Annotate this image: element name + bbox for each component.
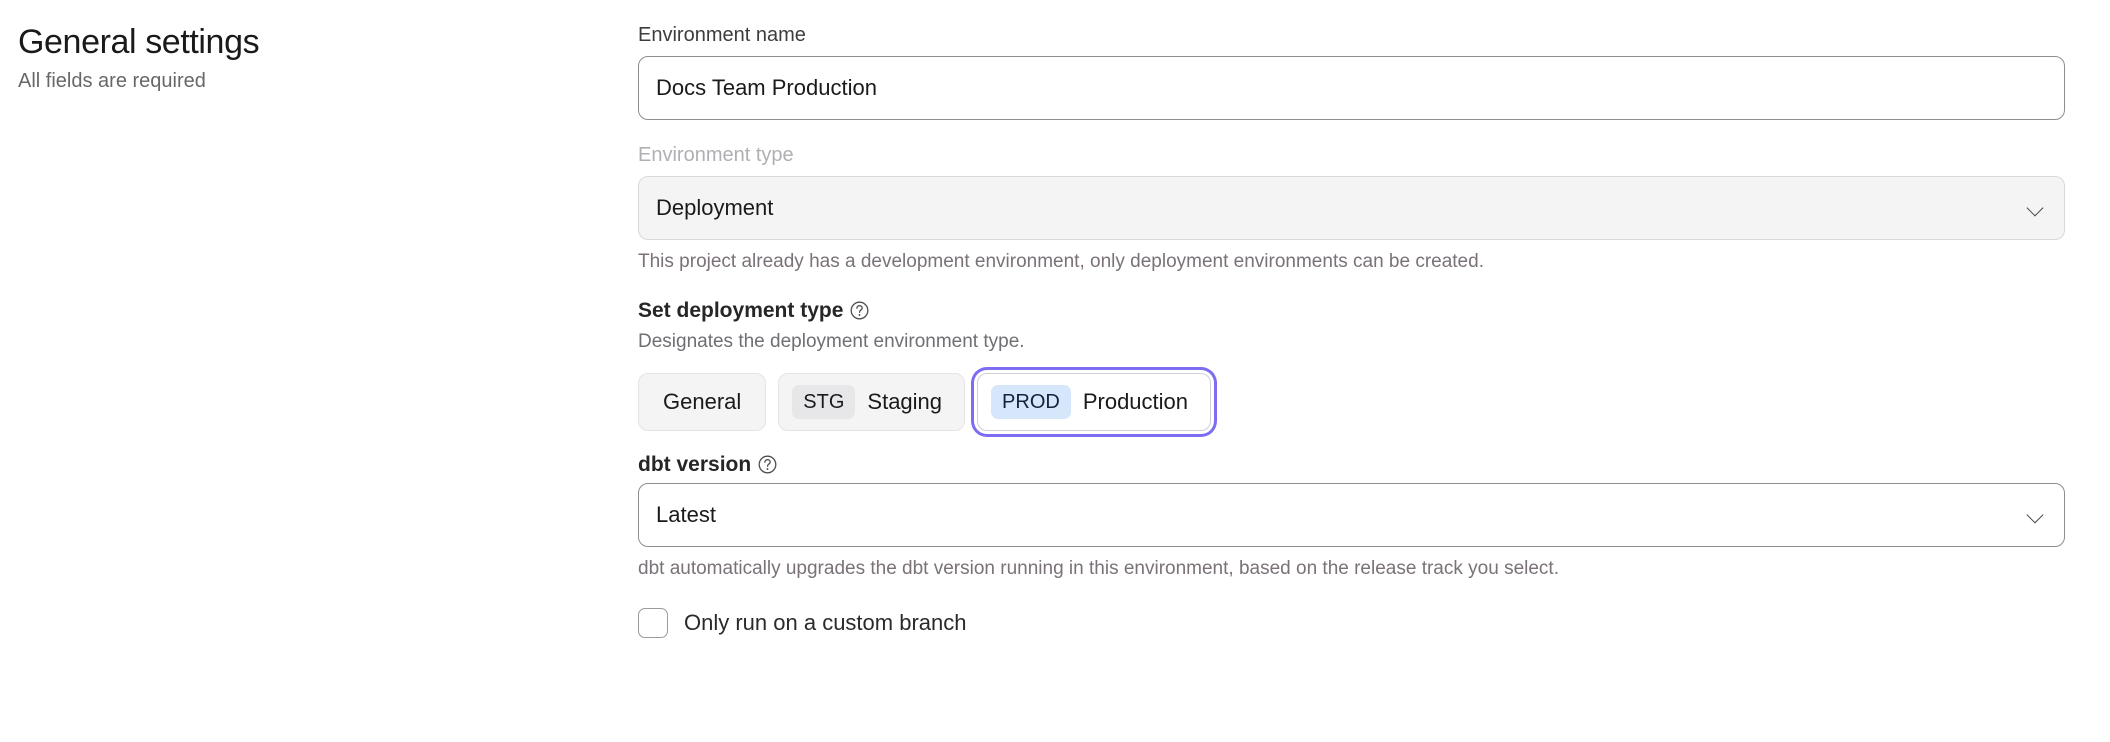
chevron-down-icon bbox=[2025, 504, 2047, 526]
environment-type-helper-text: This project already has a development e… bbox=[638, 249, 2065, 275]
dbt-version-heading: dbt version bbox=[638, 451, 2065, 478]
dbt-version-heading-text: dbt version bbox=[638, 451, 751, 478]
question-circle-icon[interactable] bbox=[850, 301, 869, 320]
environment-type-field: Environment type Deployment This project… bbox=[638, 142, 2065, 275]
deployment-type-option-general[interactable]: General bbox=[638, 373, 766, 431]
dbt-version-helper-text: dbt automatically upgrades the dbt versi… bbox=[638, 556, 2065, 582]
deployment-type-field: Set deployment type Designates the deplo… bbox=[638, 297, 2065, 437]
deployment-type-option-production[interactable]: PROD Production bbox=[977, 373, 1211, 431]
environment-name-input[interactable]: Docs Team Production bbox=[638, 56, 2065, 120]
spacer bbox=[638, 275, 2065, 297]
custom-branch-checkbox[interactable] bbox=[638, 608, 668, 638]
spacer bbox=[638, 437, 2065, 451]
page-title: General settings bbox=[18, 22, 638, 62]
deployment-type-options: General STG Staging PROD Production bbox=[638, 367, 2065, 437]
deployment-type-option-staging-label: Staging bbox=[867, 391, 942, 413]
deployment-type-button-group: General STG Staging PROD Production bbox=[638, 373, 2065, 431]
general-settings-page: General settings All fields are required… bbox=[0, 0, 2110, 638]
settings-intro-column: General settings All fields are required bbox=[0, 0, 638, 94]
environment-type-label: Environment type bbox=[638, 142, 2065, 168]
deployment-type-option-staging[interactable]: STG Staging bbox=[778, 373, 965, 431]
question-circle-icon[interactable] bbox=[758, 455, 777, 474]
page-subtitle: All fields are required bbox=[18, 68, 638, 94]
custom-branch-field: Only run on a custom branch bbox=[638, 608, 2065, 638]
deployment-type-description: Designates the deployment environment ty… bbox=[638, 329, 2065, 355]
production-badge: PROD bbox=[991, 385, 1071, 419]
deployment-type-option-production-label: Production bbox=[1083, 391, 1188, 413]
deployment-type-heading-text: Set deployment type bbox=[638, 297, 843, 324]
environment-type-select[interactable]: Deployment bbox=[638, 176, 2065, 240]
settings-form-column: Environment name Docs Team Production En… bbox=[638, 0, 2088, 638]
spacer bbox=[638, 120, 2065, 142]
chevron-down-icon bbox=[2025, 197, 2047, 219]
dbt-version-value: Latest bbox=[656, 504, 716, 526]
staging-badge: STG bbox=[792, 385, 855, 419]
deployment-type-option-general-label: General bbox=[663, 391, 741, 413]
deployment-type-heading: Set deployment type bbox=[638, 297, 2065, 324]
dbt-version-select[interactable]: Latest bbox=[638, 483, 2065, 547]
dbt-version-field: dbt version Latest dbt automatically upg… bbox=[638, 451, 2065, 582]
environment-name-field: Environment name Docs Team Production bbox=[638, 22, 2065, 120]
custom-branch-label: Only run on a custom branch bbox=[684, 612, 966, 634]
environment-name-label: Environment name bbox=[638, 22, 2065, 48]
environment-type-value: Deployment bbox=[656, 197, 773, 219]
